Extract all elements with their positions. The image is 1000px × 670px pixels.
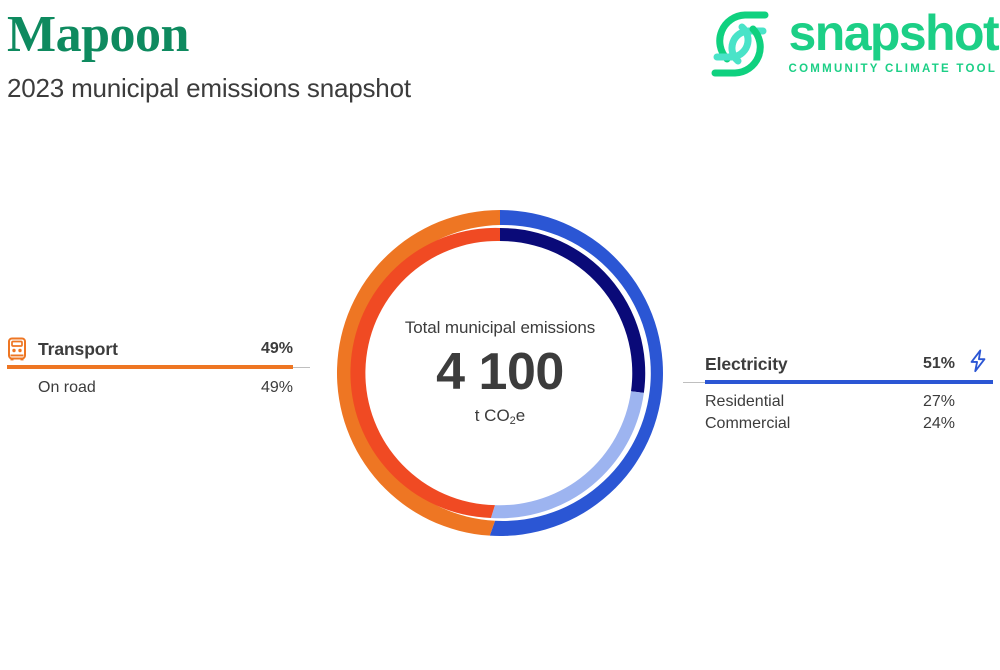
legend-electricity-accent-bar	[705, 380, 993, 384]
legend-sub-percent: 49%	[261, 377, 293, 399]
legend-sub-item[interactable]: On road 49%	[0, 377, 310, 399]
page-header: Mapoon 2023 municipal emissions snapshot…	[0, 0, 1000, 120]
legend-electricity-title: Electricity	[705, 354, 788, 375]
lightning-bolt-icon	[967, 349, 989, 373]
donut-svg	[322, 195, 678, 551]
legend-sub-label: Commercial	[705, 413, 790, 435]
legend-sub-item[interactable]: Residential 27%	[683, 391, 993, 413]
logo-text-group: snapshot COMMUNITY CLIMATE TOOL	[789, 5, 998, 76]
legend-transport-leader-line	[293, 367, 310, 368]
legend-electricity-subitems: Residential 27% Commercial 24%	[683, 391, 993, 435]
brand-logo: snapshot COMMUNITY CLIMATE TOOL	[705, 5, 998, 87]
logo-tagline: COMMUNITY CLIMATE TOOL	[789, 62, 998, 76]
legend-electricity-rule	[683, 377, 993, 388]
tram-icon	[6, 337, 28, 361]
legend-transport-rule	[0, 362, 310, 373]
page-title: Mapoon	[7, 4, 189, 66]
page-subtitle: 2023 municipal emissions snapshot	[7, 70, 411, 106]
donut-slice-commercial[interactable]	[491, 391, 644, 518]
legend-transport-title: Transport	[38, 339, 118, 360]
logo-wordmark: snapshot	[789, 5, 998, 61]
snapshot-spiral-mark-icon	[705, 7, 775, 81]
legend-transport-subitems: On road 49%	[0, 377, 310, 399]
legend-electricity-leader-line	[683, 382, 705, 383]
legend-transport-accent-bar	[7, 365, 293, 369]
legend-transport[interactable]: Transport 49% On road 49%	[0, 336, 310, 399]
donut-ring-sector	[337, 210, 663, 536]
legend-transport-percent: 49%	[261, 340, 293, 358]
legend-electricity-percent: 51%	[923, 355, 955, 373]
legend-sub-item[interactable]: Commercial 24%	[683, 413, 993, 435]
legend-sub-percent: 27%	[923, 391, 955, 413]
legend-sub-percent: 24%	[923, 413, 955, 435]
legend-electricity-header: Electricity 51%	[683, 351, 993, 377]
emissions-donut-chart: Total municipal emissions 4 100 t CO2e	[322, 195, 678, 551]
legend-transport-header: Transport 49%	[0, 336, 310, 362]
legend-sub-label: On road	[38, 377, 96, 399]
legend-sub-label: Residential	[705, 391, 784, 413]
donut-ring-subsector	[350, 228, 645, 518]
legend-electricity[interactable]: Electricity 51% Residential 27% Commerci…	[683, 351, 993, 435]
donut-slice-residential[interactable]	[500, 228, 645, 393]
